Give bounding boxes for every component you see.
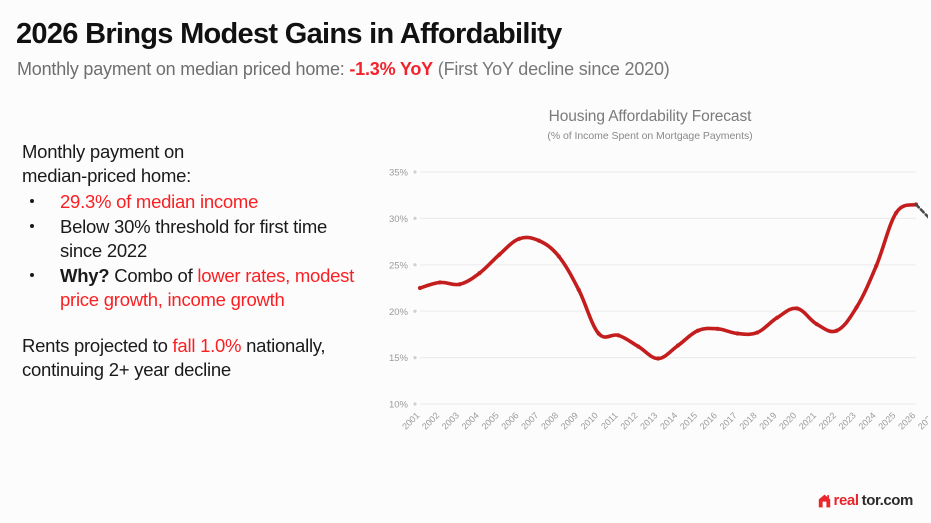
x-axis-tick-label: 2006 — [499, 410, 520, 431]
subtitle-highlight: -1.3% YoY — [349, 59, 433, 79]
x-axis-tick-label: 2023 — [837, 410, 858, 431]
x-axis-tick-label: 2002 — [420, 410, 441, 431]
rents-text-a: Rents projected to — [22, 335, 173, 356]
house-icon — [818, 494, 831, 508]
x-axis-tick-label: 2009 — [559, 410, 580, 431]
x-axis-tick-label: 2007 — [519, 410, 540, 431]
y-axis-tick-label: 30% — [389, 214, 409, 225]
forecast-segment — [916, 204, 928, 229]
y-axis-tick-label: 10% — [389, 400, 409, 411]
x-axis-tick-label: 2016 — [698, 410, 719, 431]
list-item: Why? Combo of lower rates, modest price … — [22, 264, 362, 312]
x-axis-tick-label: 2019 — [757, 410, 778, 431]
x-axis-tick-label: 2005 — [480, 410, 501, 431]
x-axis-tick-label: 2012 — [618, 410, 639, 431]
x-axis-tick-label: 2004 — [460, 410, 481, 431]
bullet-1-text: 29.3% of median income — [60, 191, 258, 212]
bullet-3-rest: Combo of — [109, 265, 197, 286]
subtitle: Monthly payment on median priced home: -… — [17, 59, 670, 80]
chart-subtitle: (% of Income Spent on Mortgage Payments) — [380, 130, 920, 142]
x-axis-tick-label: 2015 — [678, 410, 699, 431]
x-axis-tick-label: 2008 — [539, 410, 560, 431]
x-axis-tick-label: 2026 — [896, 410, 917, 431]
x-axis-tick-label: 2017 — [718, 410, 739, 431]
rents-highlight: fall 1.0% — [173, 335, 242, 356]
line-chart: 10%15%20%25%30%35%2001200220032004200520… — [378, 150, 928, 460]
rents-paragraph: Rents projected to fall 1.0% nationally,… — [22, 334, 362, 382]
lead-line-2: median-priced home: — [22, 164, 362, 188]
list-item: 29.3% of median income — [22, 190, 362, 214]
x-axis-tick-label: 2003 — [440, 410, 461, 431]
x-axis-tick-label: 2025 — [876, 410, 897, 431]
x-axis-tick-label: 2014 — [658, 410, 679, 431]
chart-canvas: 10%15%20%25%30%35%2001200220032004200520… — [378, 150, 928, 460]
logo-text-part1: real — [834, 492, 859, 509]
bullet-3-label: Why? — [60, 265, 109, 286]
bullet-2-text: Below 30% threshold for first time since… — [60, 216, 327, 261]
left-copy-block: Monthly payment on median-priced home: 2… — [22, 140, 362, 382]
y-axis-tick-label: 15% — [389, 353, 409, 364]
x-axis-tick-label: 2013 — [638, 410, 659, 431]
slide-root: 2026 Brings Modest Gains in Affordabilit… — [0, 0, 931, 523]
bullet-list: 29.3% of median income Below 30% thresho… — [22, 190, 362, 312]
x-axis-tick-label: 2010 — [579, 410, 600, 431]
lead-line-1: Monthly payment on — [22, 140, 362, 164]
page-title: 2026 Brings Modest Gains in Affordabilit… — [16, 18, 562, 51]
x-axis-tick-label: 2021 — [797, 410, 818, 431]
x-axis-tick-label: 2024 — [856, 410, 877, 431]
series-markers — [418, 202, 918, 360]
x-axis-tick-label: 2022 — [817, 410, 838, 431]
x-axis-tick-label: 2018 — [737, 410, 758, 431]
series-line — [420, 204, 916, 358]
x-axis-tick-label: 2011 — [599, 410, 620, 431]
chart-title: Housing Affordability Forecast — [380, 108, 920, 126]
x-axis-tick-label: 2020 — [777, 410, 798, 431]
realtor-logo: realtor.com — [818, 492, 913, 509]
subtitle-prefix: Monthly payment on median priced home: — [17, 59, 349, 79]
y-axis-tick-label: 35% — [389, 168, 409, 179]
x-axis-tick-label: 2026 — [916, 410, 928, 431]
logo-text-part2: tor.com — [862, 492, 913, 509]
list-item: Below 30% threshold for first time since… — [22, 215, 362, 263]
x-axis-tick-label: 2001 — [400, 410, 421, 431]
y-axis-tick-label: 20% — [389, 307, 409, 318]
y-axis-tick-label: 25% — [389, 260, 409, 271]
subtitle-suffix: (First YoY decline since 2020) — [433, 59, 670, 79]
